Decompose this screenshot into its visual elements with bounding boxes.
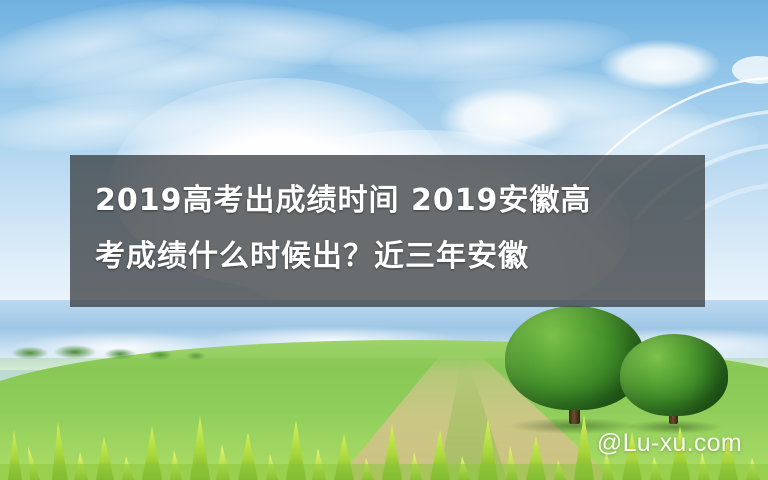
site-watermark: @Lu-xu.com (597, 429, 742, 458)
header-image: 2019高考出成绩时间 2019安徽高 考成绩什么时候出？近三年安徽 @Lu-x… (0, 0, 768, 480)
title-banner: 2019高考出成绩时间 2019安徽高 考成绩什么时候出？近三年安徽 (70, 155, 705, 307)
title-line-2: 考成绩什么时候出？近三年安徽 (70, 229, 705, 285)
tree-crown (620, 334, 728, 416)
distant-treeline (0, 344, 240, 360)
title-line-1: 2019高考出成绩时间 2019安徽高 (70, 155, 705, 229)
